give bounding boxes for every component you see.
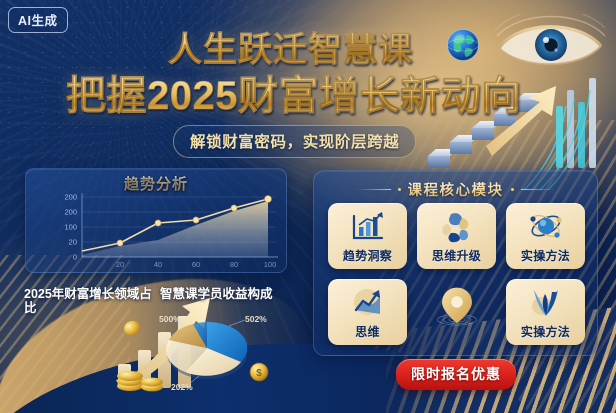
trend-line-chart: 200 200 100 20 0 20 40 60 80 100 [30,189,284,271]
poster-root: AI生成 人生跃迁智慧课 把握2025财富增长新动向 解锁财富密码，实现阶层跨越… [0,0,616,413]
module-card-mindset[interactable]: 思维 [328,279,407,345]
ytick-2: 100 [64,223,77,232]
xtick-1: 40 [154,260,162,269]
svg-text:$: $ [256,368,262,379]
abstract-shapes-icon [437,208,477,246]
ytick-4: 0 [73,253,77,262]
core-modules-title-row: 课程核心模块 [314,179,597,200]
earnings-composition-heading: 智慧课学员收益构成 [160,287,292,301]
promo-badge[interactable]: 限时报名优惠 [396,359,516,390]
pie-label-1: 502% [245,314,267,324]
hero-title-line-2: 把握2025财富增长新动向 [66,63,521,121]
pie-label-0: 500% [159,314,181,324]
module-label: 趋势洞察 [343,247,392,264]
core-modules-panel: 课程核心模块 趋势洞察 [313,170,598,356]
module-card-practical-method[interactable]: 实操方法 [506,203,585,269]
module-label: 实操方法 [521,247,570,264]
ai-generated-badge: AI生成 [8,7,68,33]
globe-icon [446,28,480,62]
module-card-trend-insight[interactable]: 趋势洞察 [328,203,407,269]
earnings-pie-chart: 500% 502% 202% $ [155,300,285,395]
ytick-3: 20 [69,238,77,247]
module-label: 实操方法 [521,323,570,340]
hero-subtitle: 解锁财富密码，实现阶层跨越 [173,125,416,158]
trend-analysis-card: 趋势分析 200 200 100 20 0 [25,168,287,273]
xtick-2: 60 [192,260,200,269]
xtick-0: 20 [116,260,124,269]
checkmark-swoosh-icon [526,284,566,322]
xtick-4: 100 [264,260,277,269]
module-card-location[interactable] [417,279,496,345]
title-dot-left [398,188,401,191]
trend-arrow-circle-icon [348,284,388,322]
core-modules-title: 课程核心模块 [408,179,504,200]
module-label: 思维升级 [432,247,481,264]
pie-label-2: 202% [171,382,193,392]
ytick-0: 200 [64,193,77,202]
xtick-3: 80 [230,260,238,269]
atom-orbit-icon [526,208,566,246]
location-pin-icon [434,280,480,332]
modules-grid: 趋势洞察 思维升级 [328,203,585,345]
module-card-practical-method-2[interactable]: 实操方法 [506,279,585,345]
ytick-1: 200 [64,208,77,217]
title-dot-right [511,188,514,191]
gold-coins-icon: $ [250,363,268,381]
bar-chart-icon [348,208,388,246]
wealth-growth-heading: 2025年财富增长领域占比 [24,287,152,315]
module-card-mindset-upgrade[interactable]: 思维升级 [417,203,496,269]
title-rule-right [521,189,555,190]
module-label: 思维 [355,323,380,340]
title-rule-left [357,189,391,190]
